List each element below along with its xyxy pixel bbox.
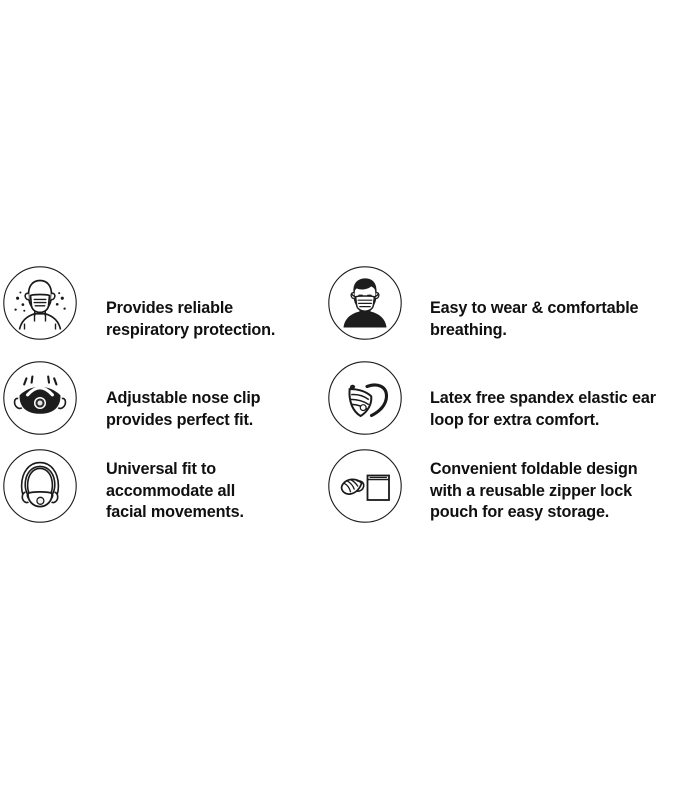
person-wearing-mask-icon	[327, 265, 403, 341]
mask-with-ear-loop-icon	[327, 360, 403, 436]
folded-mask-with-pouch-icon	[327, 448, 403, 524]
feature-label: Provides reliable respiratory protection…	[106, 298, 331, 341]
feature-label: Convenient foldable design with a reusab…	[430, 459, 683, 524]
feature-label: Adjustable nose clip provides perfect fi…	[106, 388, 331, 431]
black-mask-nose-clip-icon	[2, 360, 78, 436]
masked-person-with-particles-icon	[2, 265, 78, 341]
feature-label: Latex free spandex elastic ear loop for …	[430, 388, 683, 431]
features-panel: Provides reliable respiratory protection…	[0, 255, 683, 545]
feature-label: Universal fit to accommodate all facial …	[106, 459, 331, 524]
head-universal-fit-mask-icon	[2, 448, 78, 524]
feature-label: Easy to wear & comfortable breathing.	[430, 298, 683, 341]
